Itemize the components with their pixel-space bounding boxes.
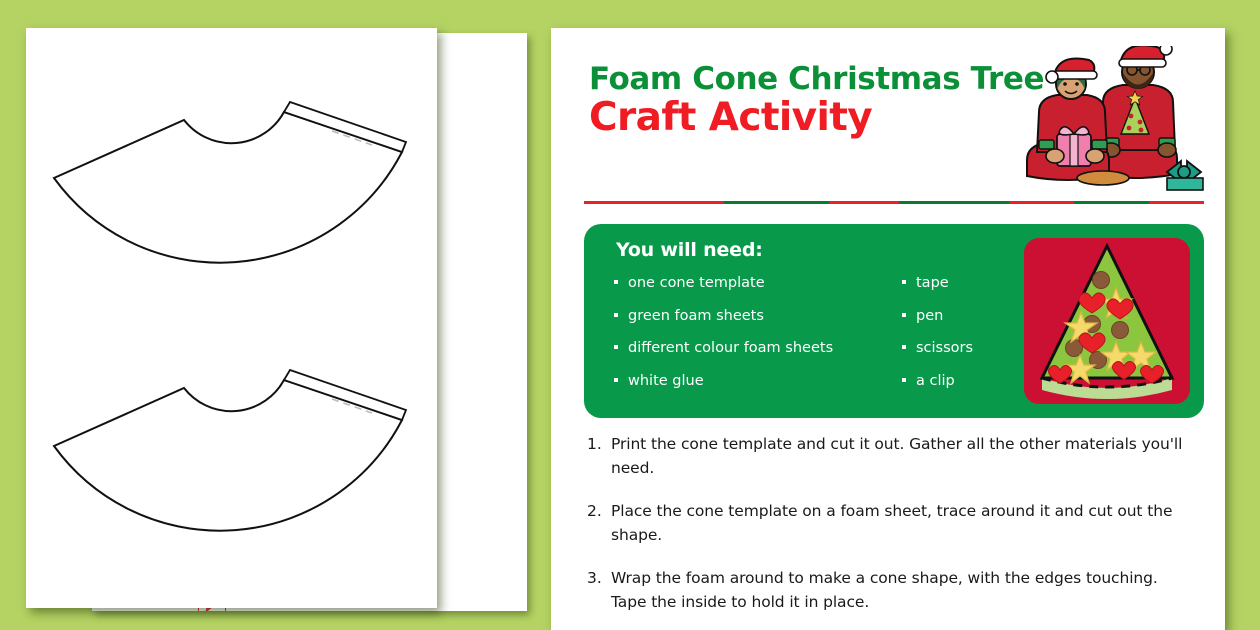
cone-template-shape-1 — [32, 58, 432, 308]
step-number: 1. — [587, 432, 611, 480]
bullet-icon — [614, 280, 618, 284]
materials-item: pen — [902, 309, 1007, 324]
step-text: Print the cone template and cut it out. … — [611, 432, 1187, 480]
step-number: 3. — [587, 566, 611, 614]
page-title-line-1: Foam Cone Christmas Tree — [589, 64, 1044, 96]
bullet-icon — [902, 313, 906, 317]
materials-item-label: a clip — [916, 374, 955, 389]
materials-item-label: pen — [916, 309, 943, 324]
materials-item-label: different colour foam sheets — [628, 341, 833, 356]
step-text: Place the cone template on a foam sheet,… — [611, 499, 1187, 547]
instruction-step: 3. Wrap the foam around to make a cone s… — [587, 566, 1187, 614]
step-text: Wrap the foam around to make a cone shap… — [611, 566, 1187, 614]
page-title: Foam Cone Christmas Tree Craft Activity — [589, 64, 1044, 139]
bullet-icon — [614, 313, 618, 317]
bullet-icon — [902, 345, 906, 349]
instruction-step: 2. Place the cone template on a foam she… — [587, 499, 1187, 547]
materials-heading: You will need: — [616, 239, 763, 261]
instruction-step: 1. Print the cone template and cut it ou… — [587, 432, 1187, 480]
materials-item: different colour foam sheets — [614, 341, 902, 356]
materials-item-label: scissors — [916, 341, 973, 356]
materials-column-2: tape pen scissors a clip — [902, 276, 1007, 406]
page-title-line-2: Craft Activity — [589, 98, 1044, 139]
header-illustration-icon — [1007, 46, 1207, 196]
title-divider-rule — [584, 201, 1204, 204]
bullet-icon — [614, 378, 618, 382]
materials-item: scissors — [902, 341, 1007, 356]
materials-item-label: one cone template — [628, 276, 765, 291]
materials-item-label: white glue — [628, 374, 704, 389]
template-page-stack: ther it and cut dges our tree. You tick … — [0, 0, 560, 630]
materials-item: white glue — [614, 374, 902, 389]
cone-template-shape-2 — [32, 326, 432, 576]
cone-template-page[interactable] — [26, 28, 437, 608]
step-number: 2. — [587, 499, 611, 547]
instruction-steps-list: 1. Print the cone template and cut it ou… — [587, 432, 1187, 630]
bullet-icon — [902, 280, 906, 284]
materials-item: green foam sheets — [614, 309, 902, 324]
materials-item-label: green foam sheets — [628, 309, 764, 324]
materials-item: one cone template — [614, 276, 902, 291]
materials-item: a clip — [902, 374, 1007, 389]
materials-column-1: one cone template green foam sheets diff… — [614, 276, 902, 406]
instructions-page[interactable]: Foam Cone Christmas Tree Craft Activity — [551, 28, 1225, 630]
tree-illustration — [1024, 238, 1190, 404]
screenshot-canvas: ther it and cut dges our tree. You tick … — [0, 0, 1260, 630]
bullet-icon — [902, 378, 906, 382]
materials-item: tape — [902, 276, 1007, 291]
materials-box: You will need: one cone template green f… — [584, 224, 1204, 418]
materials-item-label: tape — [916, 276, 949, 291]
bullet-icon — [614, 345, 618, 349]
materials-list: one cone template green foam sheets diff… — [614, 276, 1009, 406]
